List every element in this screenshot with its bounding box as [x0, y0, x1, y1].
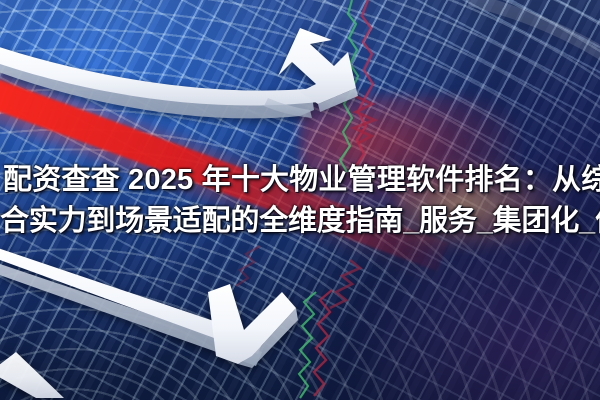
headline-line-1: 配资查查 2025 年十大物业管理软件排名：从综	[3, 160, 600, 201]
headline-line-2: 合实力到场景适配的全维度指南_服务_集团化_优势	[0, 201, 600, 242]
trace-red-lower	[314, 290, 332, 396]
trace-red-head	[236, 246, 260, 286]
arrow-down-right-icon	[0, 246, 298, 398]
trace-red-lower-cluster	[330, 260, 360, 308]
headline: 配资查查 2025 年十大物业管理软件排名：从综 合实力到场景适配的全维度指南_…	[0, 160, 600, 242]
arc-highlight	[468, 0, 600, 64]
trace-green-lower	[299, 292, 316, 398]
thumbnail-canvas: 配资查查 2025 年十大物业管理软件排名：从综 合实力到场景适配的全维度指南_…	[0, 0, 600, 400]
